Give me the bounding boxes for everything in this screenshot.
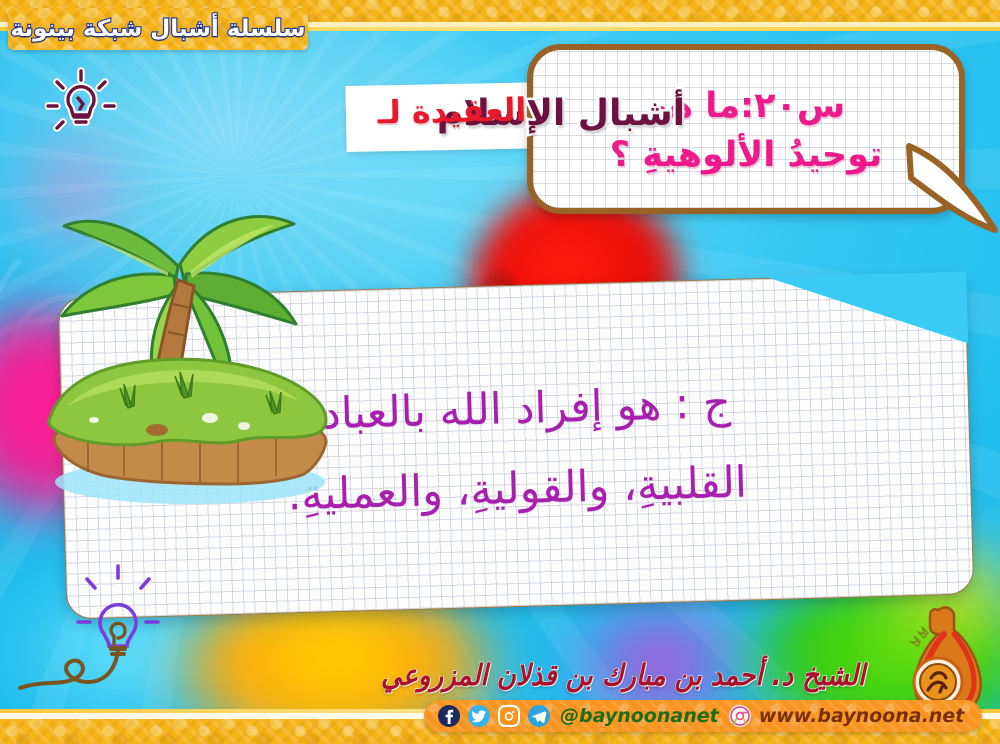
telegram-icon[interactable]: [528, 705, 550, 727]
series-banner: سلسلة أشبال شبكة بينونة: [8, 8, 308, 50]
lightbulb-icon: [18, 560, 208, 700]
footer-social-bar: @baynoonanet www.baynoona.net: [424, 700, 982, 732]
palm-tree-island-illustration: [28, 168, 358, 518]
browser-icon[interactable]: [729, 705, 751, 727]
author-signature: الشيخ د. أحمد بن مبارك بن قذلان المزروعي: [418, 648, 828, 704]
question-line-2: توحيدُ الألوهيةِ ؟: [610, 133, 882, 178]
answer-line-1: ج : هو إفراد الله بالعبادةِ: [298, 377, 731, 443]
lightbulb-icon: [45, 62, 117, 138]
website-label[interactable]: www.baynoona.net: [759, 705, 969, 727]
aqeedah-question-card: سلسلة أشبال شبكة بينونة أشبال الإسلام ال…: [0, 0, 1000, 744]
twitter-icon[interactable]: [468, 705, 490, 727]
author-signature-text: الشيخ د. أحمد بن مبارك بن قذلان المزروعي: [381, 659, 865, 693]
social-handle-label[interactable]: @baynoonanet: [558, 705, 721, 727]
subject-label-aqeedah: العقيدة لـ: [352, 90, 553, 132]
series-banner-label: سلسلة أشبال شبكة بينونة: [11, 16, 306, 42]
instagram-icon[interactable]: [498, 705, 520, 727]
facebook-icon[interactable]: [438, 705, 460, 727]
